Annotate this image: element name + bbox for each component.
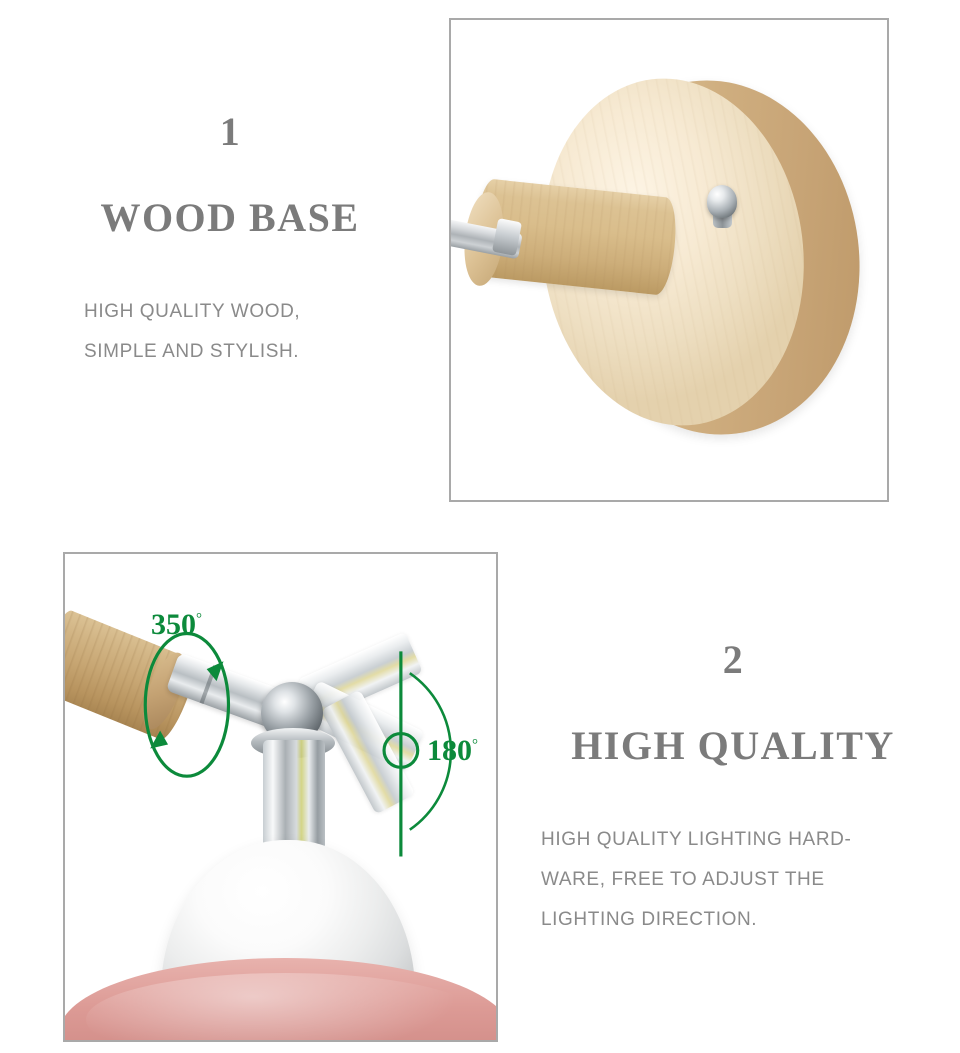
feature-1-title: WOOD BASE bbox=[40, 196, 420, 240]
chrome-tube-band bbox=[200, 665, 217, 704]
feature-1-body-line-1: HIGH QUALITY WOOD, bbox=[84, 292, 420, 332]
wood-base-photo bbox=[451, 20, 887, 500]
feature-2-text-block: 2 HIGH QUALITY HIGH QUALITY LIGHTING HAR… bbox=[533, 640, 933, 940]
tilt-angle-value: 180 bbox=[427, 734, 472, 767]
feature-2-body: HIGH QUALITY LIGHTING HARD- WARE, FREE T… bbox=[533, 820, 933, 940]
feature-2-title: HIGH QUALITY bbox=[533, 724, 933, 768]
rotation-angle-value: 350 bbox=[151, 608, 196, 641]
feature-1-photo-frame bbox=[449, 18, 889, 502]
rotation-degree-symbol: ° bbox=[196, 611, 202, 627]
pink-base-disc bbox=[63, 958, 498, 1042]
tilt-degree-symbol: ° bbox=[472, 737, 478, 753]
feature-1-number: 1 bbox=[40, 112, 420, 152]
adjustable-joint-photo: 350° 180° bbox=[65, 554, 496, 1040]
product-feature-page: 1 WOOD BASE HIGH QUALITY WOOD, SIMPLE AN… bbox=[0, 0, 960, 1053]
feature-2-body-line-2: WARE, FREE TO ADJUST THE bbox=[541, 860, 933, 900]
lamp-stem bbox=[263, 740, 325, 850]
rotation-angle-label: 350° bbox=[151, 610, 202, 640]
feature-2-number: 2 bbox=[533, 640, 933, 680]
feature-1-body: HIGH QUALITY WOOD, SIMPLE AND STYLISH. bbox=[40, 292, 420, 372]
feature-2-body-line-1: HIGH QUALITY LIGHTING HARD- bbox=[541, 820, 933, 860]
feature-1-body-line-2: SIMPLE AND STYLISH. bbox=[84, 332, 420, 372]
screw-knob-icon bbox=[707, 185, 737, 218]
feature-2-body-line-3: LIGHTING DIRECTION. bbox=[541, 900, 933, 940]
feature-2-photo-frame: 350° 180° bbox=[63, 552, 498, 1042]
tilt-angle-label: 180° bbox=[427, 736, 478, 766]
feature-1-text-block: 1 WOOD BASE HIGH QUALITY WOOD, SIMPLE AN… bbox=[40, 112, 420, 372]
